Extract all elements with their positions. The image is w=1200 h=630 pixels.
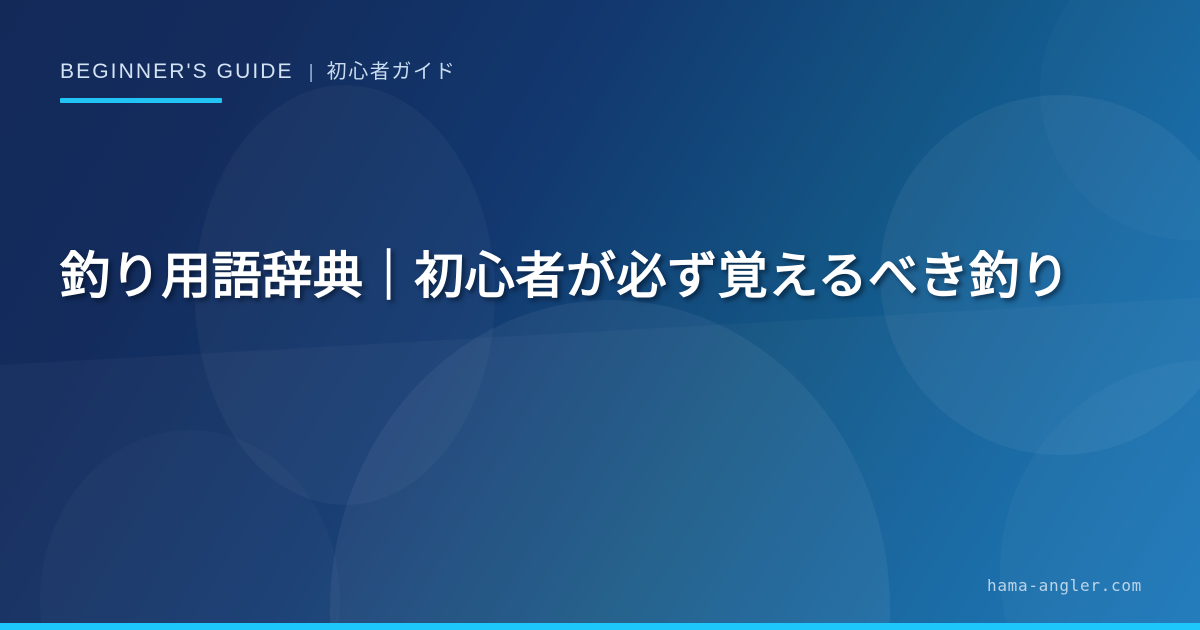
- kicker-label-ja: 初心者ガイド: [327, 55, 457, 84]
- decorative-circle-lower-left: [40, 430, 340, 630]
- og-card: BEGINNER'S GUIDE | 初心者ガイド 釣り用語辞典｜初心者が必ず覚…: [0, 0, 1200, 630]
- page-title: 釣り用語辞典｜初心者が必ず覚えるべき釣り: [60, 243, 1140, 309]
- bottom-accent-rule: [0, 623, 1200, 630]
- kicker-separator: |: [309, 62, 314, 84]
- decorative-circle-top-right: [1040, 0, 1200, 240]
- kicker: BEGINNER'S GUIDE | 初心者ガイド: [60, 55, 456, 84]
- accent-underline-bar: [60, 98, 222, 103]
- site-url: hama-angler.com: [987, 576, 1142, 595]
- kicker-label-en: BEGINNER'S GUIDE: [60, 60, 294, 84]
- decorative-circle-lower-center: [330, 300, 890, 630]
